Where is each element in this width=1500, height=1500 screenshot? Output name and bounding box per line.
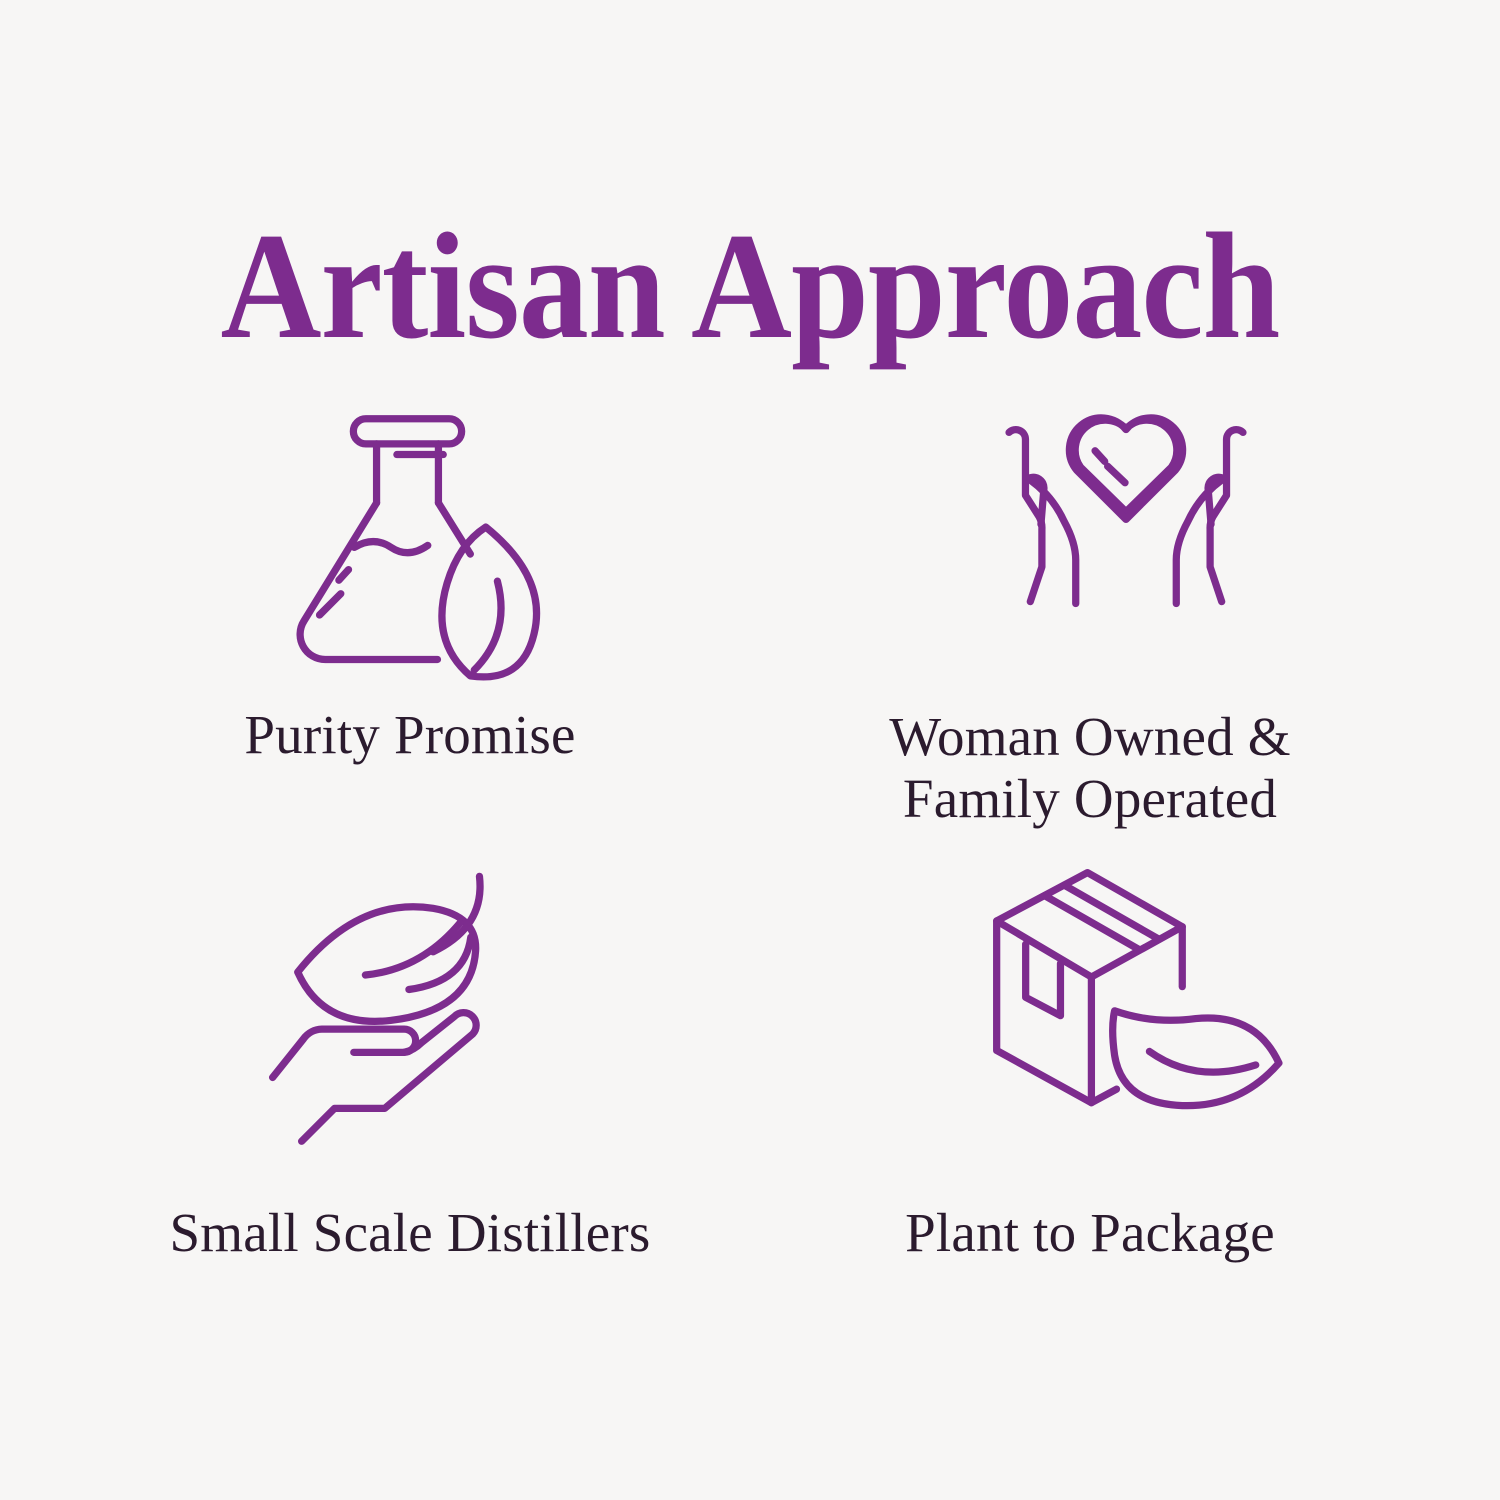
feature-label-plant-to-package: Plant to Package	[905, 1202, 1275, 1264]
feature-item-small-scale-distillers: Small Scale Distillers	[80, 850, 740, 1330]
feature-item-woman-owned: Woman Owned & Family Operated	[760, 360, 1420, 840]
box-leaf-icon	[972, 856, 1292, 1156]
artisan-approach-panel: Artisan Approach	[0, 0, 1500, 1500]
feature-item-purity-promise: Purity Promise	[80, 360, 740, 840]
feature-label-small-scale-distillers: Small Scale Distillers	[169, 1202, 650, 1264]
feature-label-woman-owned: Woman Owned & Family Operated	[889, 706, 1290, 829]
feature-grid: Purity Promise	[80, 360, 1420, 1360]
page-title: Artisan Approach	[60, 210, 1440, 362]
feature-label-purity-promise: Purity Promise	[244, 704, 575, 766]
feature-item-plant-to-package: Plant to Package	[760, 850, 1420, 1330]
hands-holding-heart-icon	[966, 382, 1286, 682]
flask-leaf-icon	[262, 378, 582, 678]
hand-holding-leaf-icon	[246, 854, 566, 1154]
